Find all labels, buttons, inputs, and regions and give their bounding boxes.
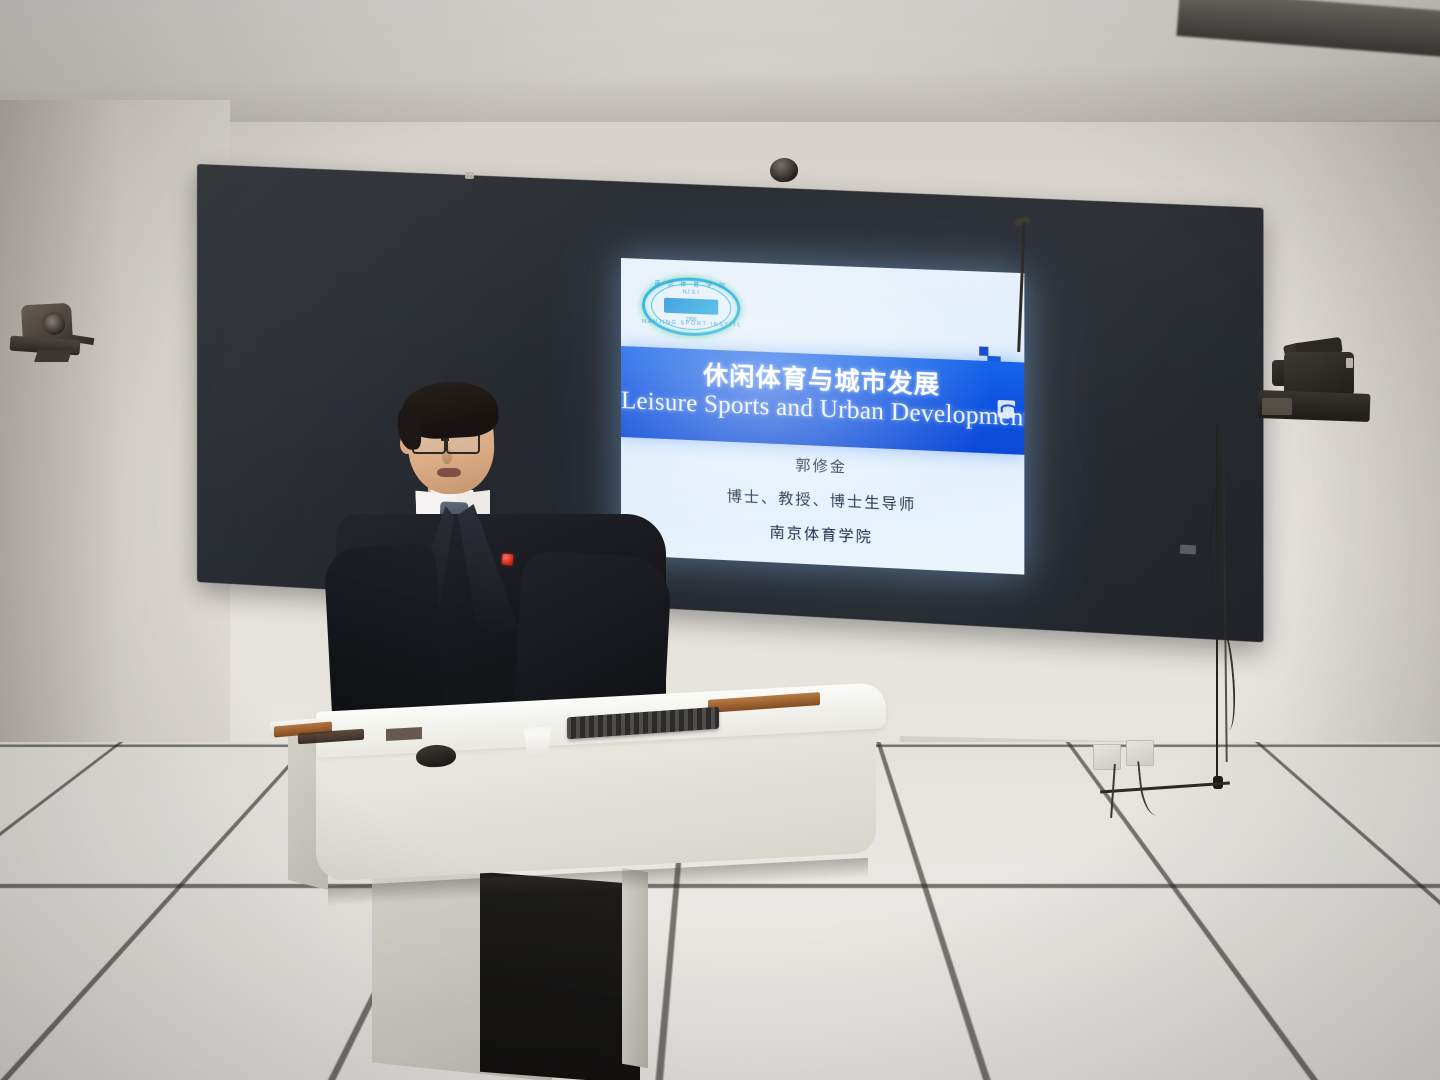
podium-recess	[386, 727, 422, 741]
lectern-podium	[268, 690, 908, 1080]
red-lapel-pin-icon	[501, 553, 513, 565]
video-camera-wall-mount-icon	[1256, 336, 1378, 436]
podium-column-dark-face	[480, 872, 640, 1080]
nanjing-sport-institute-logo-icon: 南 京 体 育 学 院 NJ S I 1956 NANJING SPORT IN…	[642, 276, 740, 338]
ptz-conference-camera-icon	[6, 300, 98, 392]
wall-outlet-right-1	[1093, 744, 1121, 770]
camera-lens-icon	[42, 312, 67, 337]
decor-badge-icon	[998, 400, 1015, 418]
wall-cable-run	[1216, 424, 1218, 780]
slide-header-area: 南 京 体 育 学 院 NJ S I 1956 NANJING SPORT IN…	[621, 258, 1024, 362]
camera-mount-plate-highlight	[1262, 398, 1292, 415]
logo-band	[664, 298, 718, 315]
lecture-hall-photo: 南 京 体 育 学 院 NJ S I 1956 NANJING SPORT IN…	[0, 0, 1440, 1080]
board-clip	[1180, 545, 1196, 555]
camera-bracket	[34, 350, 72, 362]
logo-arc-bottom-text: NANJING SPORT INSTITUTE	[642, 319, 740, 337]
wall-outlet-left-1	[213, 887, 243, 915]
speaker-mouth	[437, 468, 461, 477]
camera-body	[1284, 352, 1354, 396]
camera-tally-light-icon	[1346, 358, 1353, 368]
decor-square-small-icon	[979, 346, 988, 355]
audience-chair	[1367, 891, 1440, 1080]
podium-column-side	[622, 868, 648, 1069]
board-hook	[465, 172, 474, 179]
